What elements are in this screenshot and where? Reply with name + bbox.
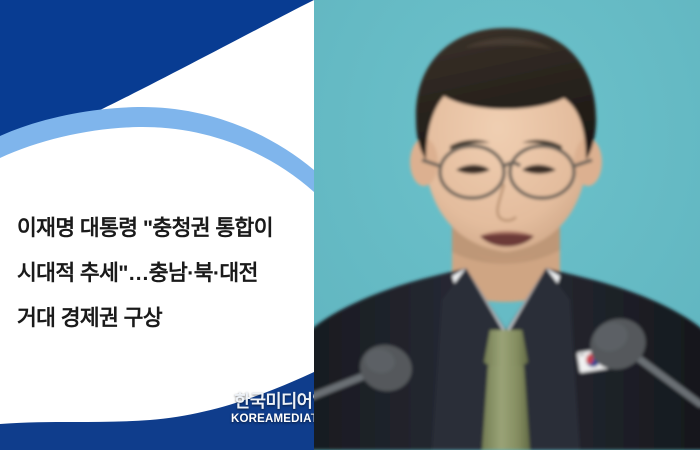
subject-photograph: [314, 0, 700, 450]
headline-text: 이재명 대통령 "충청권 통합이 시대적 추세"…충남·북·대전 거대 경제권 …: [17, 206, 302, 341]
news-thumbnail-card: 이재명 대통령 "충청권 통합이 시대적 추세"…충남·북·대전 거대 경제권 …: [0, 0, 700, 450]
watermark-logo: 한국미디어일보 KOREAMEDIATIMES: [231, 393, 314, 425]
headline-line-1: 이재명 대통령 "충청권 통합이: [17, 206, 302, 251]
watermark-english-primary: KOREAMEDIA: [231, 413, 311, 425]
photo-illustration: [314, 0, 700, 450]
headline-panel: 이재명 대통령 "충청권 통합이 시대적 추세"…충남·북·대전 거대 경제권 …: [0, 0, 314, 450]
watermark-english-text: KOREAMEDIATIMES: [231, 414, 314, 426]
watermark-korean-text: 한국미디어일보: [231, 393, 314, 411]
watermark-english-secondary: TIMES: [311, 413, 314, 425]
necktie-blade: [482, 366, 530, 450]
headline-line-2: 시대적 추세"…충남·북·대전: [17, 251, 302, 296]
headline-line-3: 거대 경제권 구상: [17, 296, 302, 341]
